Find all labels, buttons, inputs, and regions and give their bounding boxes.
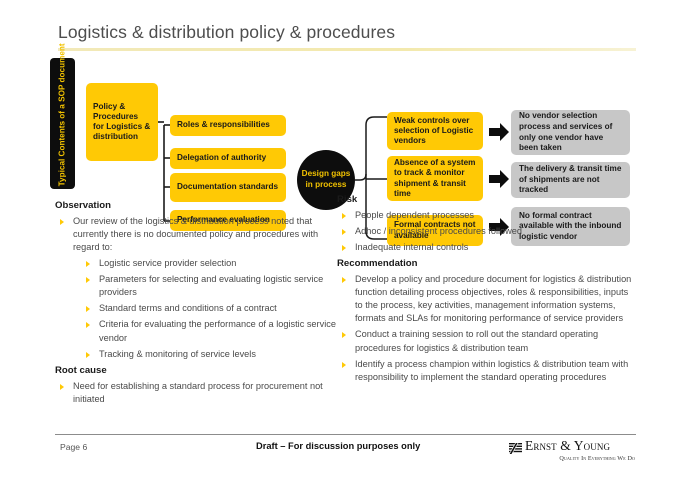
impact-arrow-2 — [489, 170, 509, 188]
diagram-box-gap-weak-controls[interactable]: Weak controls over selection of Logistic… — [387, 112, 483, 150]
page-number: Page 6 — [60, 442, 87, 452]
list-item: Conduct a training session to roll out t… — [337, 328, 637, 354]
title-underline — [58, 48, 636, 51]
sop-contents-bar-label: Typical Contents of a SOP document — [58, 61, 68, 186]
list-item: Identify a process champion within logis… — [337, 358, 637, 384]
page-title: Logistics & distribution policy & proced… — [58, 22, 395, 43]
list-item: Our review of the logistics & distributi… — [55, 215, 345, 254]
diagram-box-impact-no-vendor-selection[interactable]: No vendor selection process and services… — [511, 110, 630, 155]
root-cause-list: Need for establishing a standard process… — [55, 380, 345, 406]
recommendation-list: Develop a policy and procedure document … — [337, 273, 637, 384]
sop-contents-bar: Typical Contents of a SOP document — [50, 58, 75, 189]
diagram-box-roles-responsibilities[interactable]: Roles & responsibilities — [170, 115, 286, 136]
observation-list: Our review of the logistics & distributi… — [55, 215, 345, 254]
footer-divider — [55, 434, 636, 435]
risk-list: People dependent processes Adhoc / incon… — [337, 209, 637, 254]
observation-sublist: Logistic service provider selection Para… — [77, 257, 345, 360]
list-item: People dependent processes — [337, 209, 637, 222]
risk-heading: Risk — [337, 194, 637, 205]
list-item: Parameters for selecting and evaluating … — [77, 273, 345, 299]
recommendation-heading: Recommendation — [337, 258, 637, 269]
list-item: Adhoc / inconsistent procedures followed — [337, 225, 637, 238]
root-cause-heading: Root cause — [55, 365, 345, 376]
process-diagram: Typical Contents of a SOP document Polic… — [0, 55, 680, 195]
list-item: Develop a policy and procedure document … — [337, 273, 637, 325]
ernst-young-logo: Ernst & Young Quality In Everything We D… — [509, 438, 635, 462]
left-text-column: Observation Our review of the logistics … — [55, 196, 345, 409]
impact-arrow-1 — [489, 123, 509, 141]
list-item: Logistic service provider selection — [77, 257, 345, 270]
right-text-column: Risk People dependent processes Adhoc / … — [337, 190, 637, 387]
list-item: Criteria for evaluating the performance … — [77, 318, 345, 344]
list-item: Need for establishing a standard process… — [55, 380, 345, 406]
list-item: Tracking & monitoring of service levels — [77, 348, 345, 361]
slide: Logistics & distribution policy & proced… — [0, 0, 680, 479]
observation-heading: Observation — [55, 200, 345, 211]
ey-wordmark: Ernst & Young — [525, 438, 610, 454]
draft-notice: Draft – For discussion purposes only — [256, 441, 420, 451]
diagram-box-policy-procedures[interactable]: Policy & Procedures for Logistics & dist… — [86, 83, 158, 161]
ey-tagline: Quality In Everything We Do — [509, 455, 635, 462]
ey-beam-icon — [509, 443, 522, 454]
diagram-box-delegation-of-authority[interactable]: Delegation of authority — [170, 148, 286, 169]
list-item: Inadequate internal controls — [337, 241, 637, 254]
list-item: Standard terms and conditions of a contr… — [77, 302, 345, 315]
